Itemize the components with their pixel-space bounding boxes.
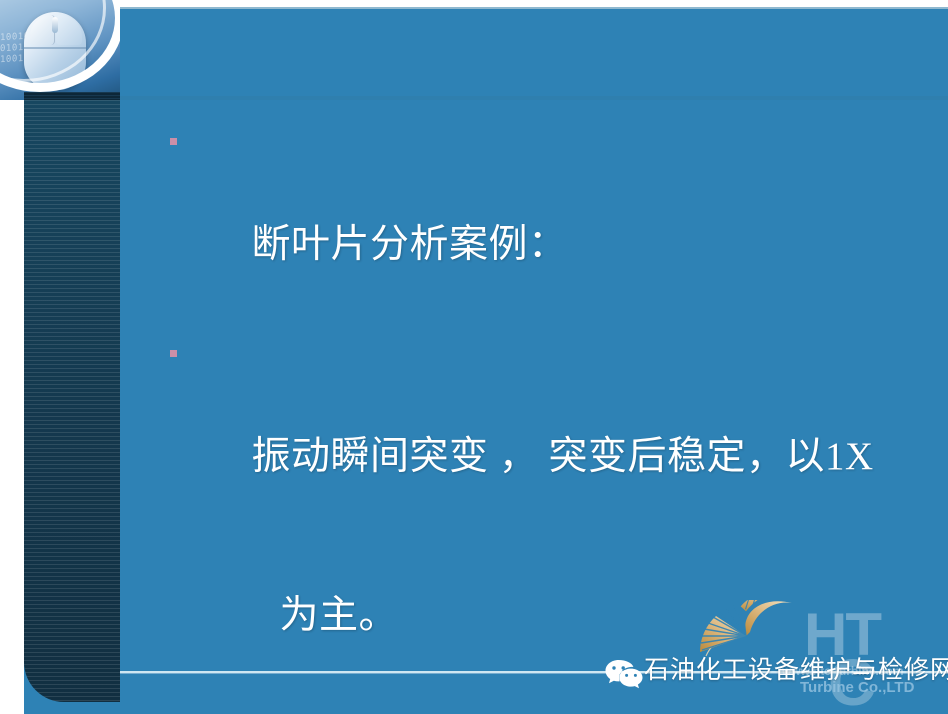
top-white-strip	[0, 0, 948, 7]
slide-header-bar	[0, 9, 945, 98]
bullet-list-item: 振动瞬间突变 ， 突变后稳定，以1X	[168, 324, 924, 536]
site-name-label: 石油化工设备维护与检修网	[644, 654, 948, 686]
bullet-list-item: 断叶片分析案例：	[168, 112, 924, 324]
turbine-fan-logo-icon	[694, 600, 798, 662]
presentation-slide: 10010 10000 01010 011111 10010 100001 断叶…	[0, 0, 948, 714]
continuation-label: 为主。	[280, 594, 399, 637]
bullet-marker-icon	[170, 138, 177, 145]
bullet-list-item: 相位瞬间突变，突变后稳定。	[168, 695, 924, 714]
top-hairline	[0, 7, 948, 9]
header-underline	[0, 96, 948, 100]
wechat-icon[interactable]	[604, 658, 644, 690]
header-mouse-graphic: 10010 10000 01010 011111 10010 100001	[0, 0, 120, 106]
sidebar-left-margin	[0, 100, 24, 714]
bullet-marker-icon	[170, 350, 177, 357]
bullet-item-label: 振动瞬间突变 ， 突变后稳定，以1X	[252, 435, 874, 478]
bullet-item-label: 断叶片分析案例：	[252, 223, 568, 266]
left-striped-sidebar	[24, 100, 120, 702]
